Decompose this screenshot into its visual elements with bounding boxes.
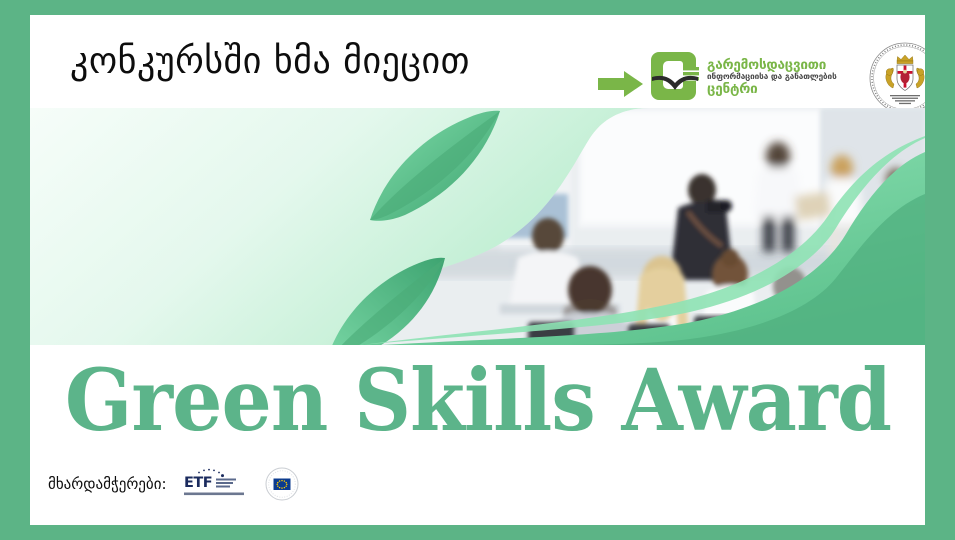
title-band: Green Skills Award მხარდამჭერები: [30, 345, 925, 525]
poster-frame: კონკურსში ხმა მიეცით [0, 0, 955, 540]
eiec-logo-line3: ცენტრი [707, 82, 837, 96]
eiec-logo-text: გარემოსდაცვითი ინფორმაციისა და განათლები… [707, 58, 837, 96]
arrow-right-icon [598, 71, 644, 97]
supporters-row: მხარდამჭერები: ETF [48, 467, 299, 501]
hero-graphic [30, 108, 925, 345]
header-band: კონკურსში ხმა მიეცით [30, 15, 925, 108]
header-headline: კონკურსში ხმა მიეცით [70, 44, 470, 80]
eu-flag-badge-icon [265, 467, 299, 501]
poster-canvas: კონკურსში ხმა მიეცით [30, 15, 925, 525]
georgia-ministry-coat-of-arms-icon [868, 41, 925, 115]
hero-image-band [30, 108, 925, 345]
eiec-logo-line1: გარემოსდაცვითი [707, 58, 837, 72]
eiec-book-logo-icon [650, 50, 702, 104]
etf-logo-icon: ETF [183, 467, 249, 501]
supporters-label: მხარდამჭერები: [48, 475, 167, 493]
page-title: Green Skills Award [64, 359, 890, 444]
eiec-logo: გარემოსდაცვითი ინფორმაციისა და განათლები… [650, 48, 850, 106]
svg-text:ETF: ETF [184, 475, 212, 491]
